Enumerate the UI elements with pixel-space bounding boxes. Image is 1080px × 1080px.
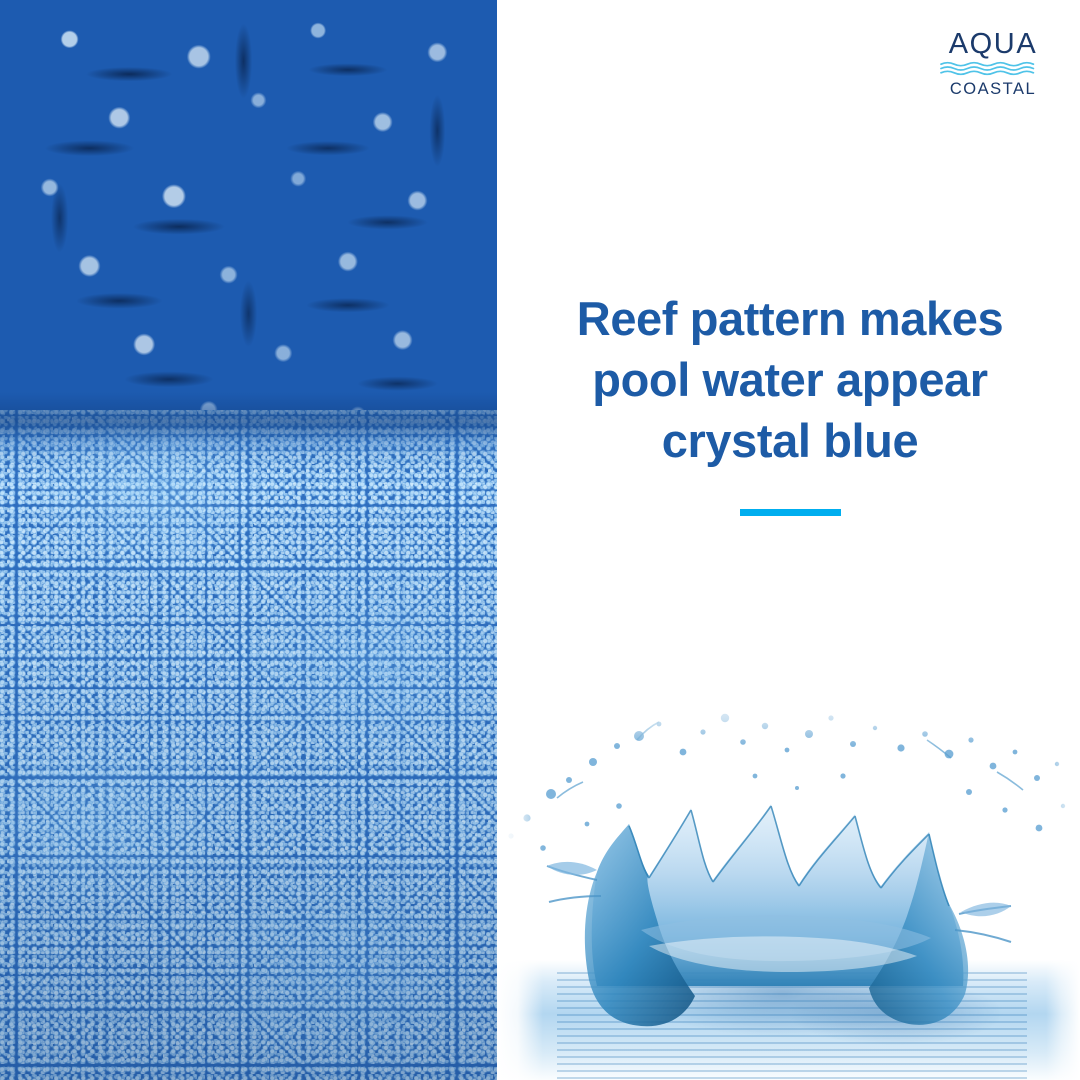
page-title: Reef pattern makes pool water appear cry… bbox=[520, 288, 1060, 471]
brand-logo[interactable]: AQUA COASTAL bbox=[939, 30, 1047, 98]
splash-right-fade bbox=[1046, 688, 1080, 1080]
wave-lines-icon bbox=[939, 61, 1047, 80]
poster-canvas: AQUA COASTAL Reef pattern makes pool wat… bbox=[0, 0, 1080, 1080]
water-splash-photo bbox=[497, 688, 1080, 1080]
splash-left-fade bbox=[497, 688, 543, 1080]
headline-line-1: Reef pattern makes bbox=[520, 288, 1060, 349]
pool-liner-texture-panel bbox=[0, 0, 497, 1080]
splash-top-fade bbox=[497, 688, 1080, 746]
headline-line-2: pool water appear bbox=[520, 349, 1060, 410]
fine-pebble-texture-layer bbox=[0, 410, 497, 1080]
logo-wordmark-aqua: AQUA bbox=[939, 30, 1047, 59]
logo-wordmark-coastal: COASTAL bbox=[939, 81, 1047, 98]
rock-highlight-speckle-layer bbox=[0, 0, 497, 436]
splash-droplets bbox=[497, 688, 1080, 1080]
headline-block: Reef pattern makes pool water appear cry… bbox=[520, 288, 1060, 516]
headline-line-3: crystal blue bbox=[520, 410, 1060, 471]
accent-divider bbox=[740, 509, 841, 516]
